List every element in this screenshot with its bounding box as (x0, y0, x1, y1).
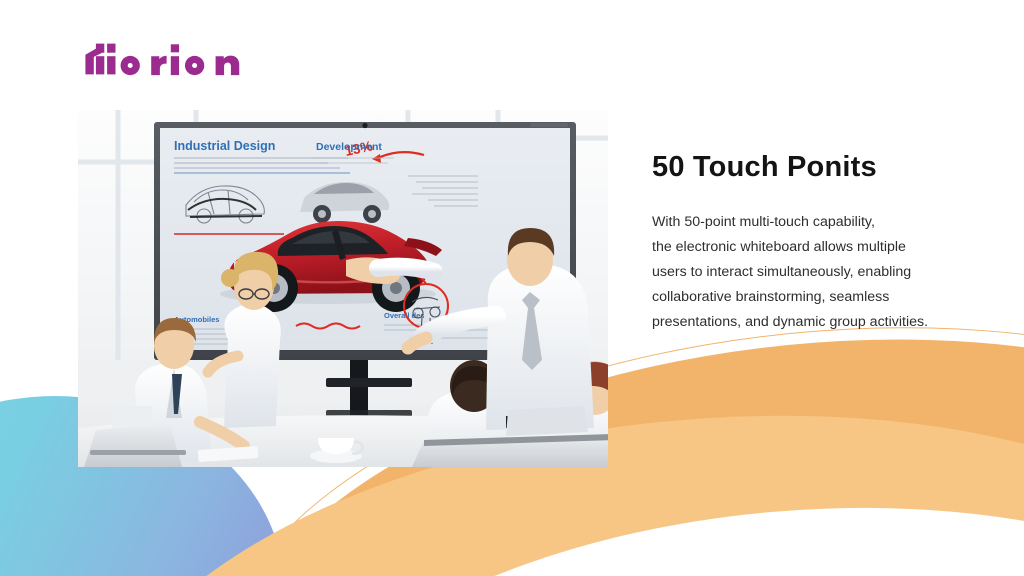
page-title: 50 Touch Ponits (652, 150, 982, 184)
body-paragraph: With 50-point multi-touch capability, th… (652, 210, 982, 335)
laptop-right (506, 406, 588, 436)
body-line: collaborative brainstorming, seamless (652, 285, 982, 310)
screen-heading-development: Development (316, 141, 382, 153)
body-line: users to interact simultaneously, enabli… (652, 260, 982, 285)
screen-heading-industrial-design: Industrial Design (174, 139, 275, 153)
copy-block: 50 Touch Ponits With 50-point multi-touc… (652, 150, 982, 335)
horion-logo (84, 37, 287, 81)
meeting-room-photo: Industrial Design 13% Development (78, 110, 608, 467)
decorative-arc-white-cutout (243, 466, 1024, 576)
body-line: presentations, and dynamic group activit… (652, 310, 982, 335)
laptop-left (84, 424, 186, 467)
body-line: With 50-point multi-touch capability, (652, 210, 982, 235)
body-line: the electronic whiteboard allows multipl… (652, 235, 982, 260)
